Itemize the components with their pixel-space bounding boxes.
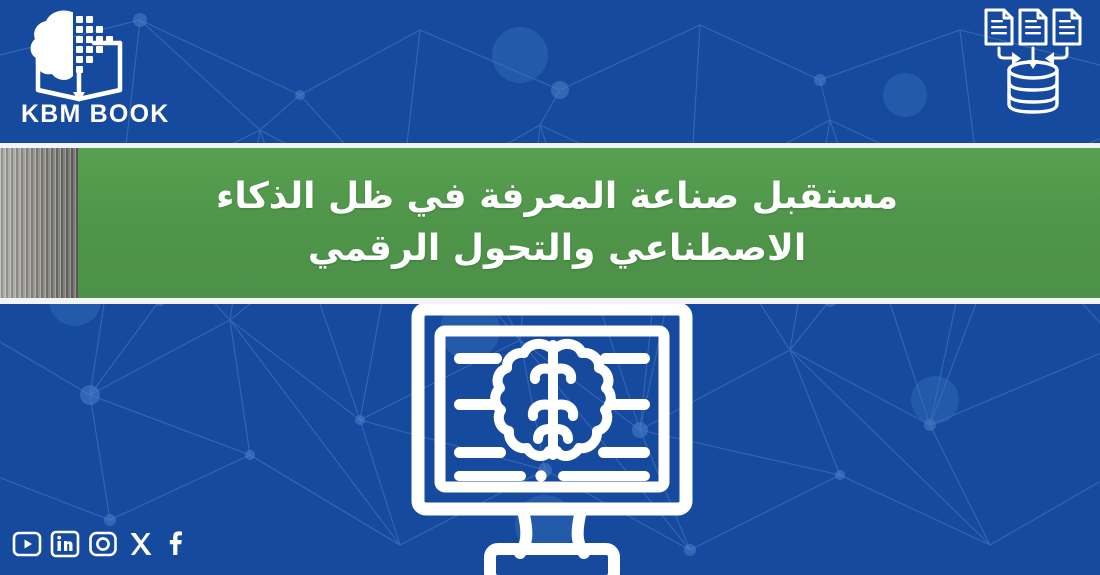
title-banner: مستقبل صناعة المعرفة في ظل الذكاء الاصطن… [0,148,1100,298]
monitor-ai-brain-icon [408,301,698,575]
facebook-icon[interactable] [160,529,180,559]
youtube-icon[interactable] [12,529,42,559]
poster-canvas: KBM BOOK [0,0,1100,575]
banner-bottom-separator [0,298,1100,304]
page-title-line-1: مستقبل صناعة المعرفة في ظل الذكاء [92,171,1022,223]
brand-name: KBM BOOK [12,100,192,129]
brain-book-icon [24,6,134,102]
header-separator [0,143,1100,148]
instagram-icon[interactable] [88,529,118,559]
page-title: مستقبل صناعة المعرفة في ظل الذكاء الاصطن… [92,171,1022,275]
x-twitter-icon[interactable] [126,529,152,559]
documents-to-database-icon [978,4,1088,119]
social-links[interactable] [12,523,180,565]
linkedin-icon[interactable] [50,529,80,559]
brand-logo: KBM BOOK [12,6,192,136]
striped-page-edge-texture [0,148,78,298]
page-title-line-2: الاصطناعي والتحول الرقمي [92,223,1022,275]
